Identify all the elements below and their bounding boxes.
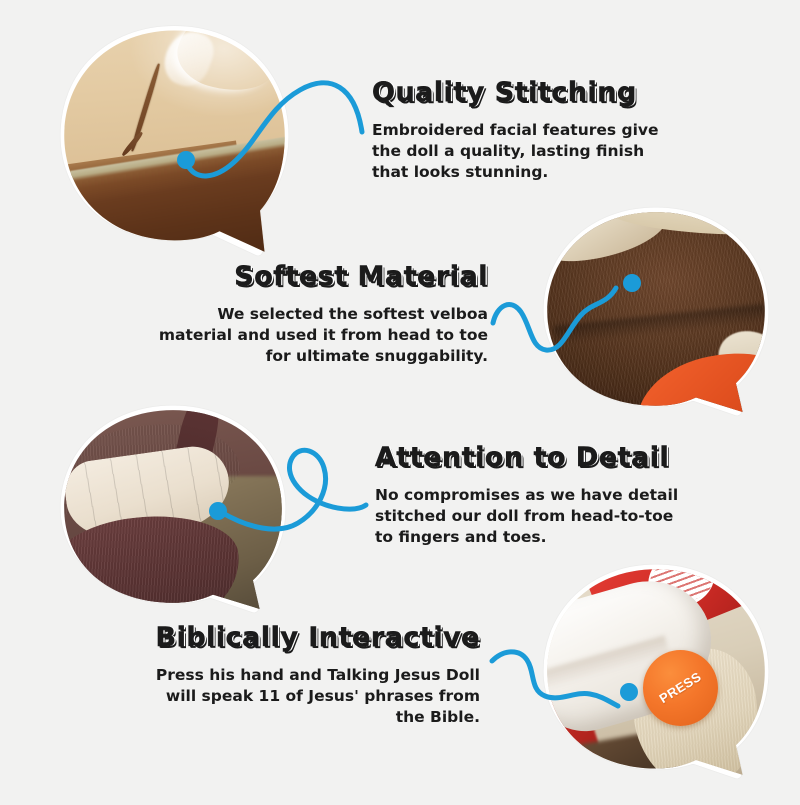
photo-bubble-attention-to-detail [62,406,284,611]
photo-bubble-quality-stitching [62,26,287,254]
section-text-softest-material: Softest Material We selected the softest… [140,262,488,366]
section-text-biblically-interactive: Biblically Interactive Press his hand an… [148,623,480,727]
photo-bubble-softest-material [545,208,767,414]
section-text-quality-stitching: Quality Stitching Embroidered facial fea… [372,78,672,182]
press-button-sticker[interactable]: PRESS [643,650,718,726]
section-body-softest-material: We selected the softest velboa material … [140,304,488,367]
infographic-canvas: PRESS Quality Stitching Embroidered faci… [0,0,800,800]
section-body-attention-to-detail: No compromises as we have detail stitche… [375,485,695,548]
section-body-biblically-interactive: Press his hand and Talking Jesus Doll wi… [148,665,480,728]
press-button-label: PRESS [657,669,704,706]
section-heading-attention-to-detail: Attention to Detail [375,443,695,473]
section-heading-quality-stitching: Quality Stitching [372,78,672,108]
section-body-quality-stitching: Embroidered facial features give the dol… [372,120,672,183]
photo-bubble-biblically-interactive: PRESS [545,565,767,777]
section-heading-biblically-interactive: Biblically Interactive [148,623,480,653]
section-text-attention-to-detail: Attention to Detail No compromises as we… [375,443,695,547]
section-heading-softest-material: Softest Material [140,262,488,292]
